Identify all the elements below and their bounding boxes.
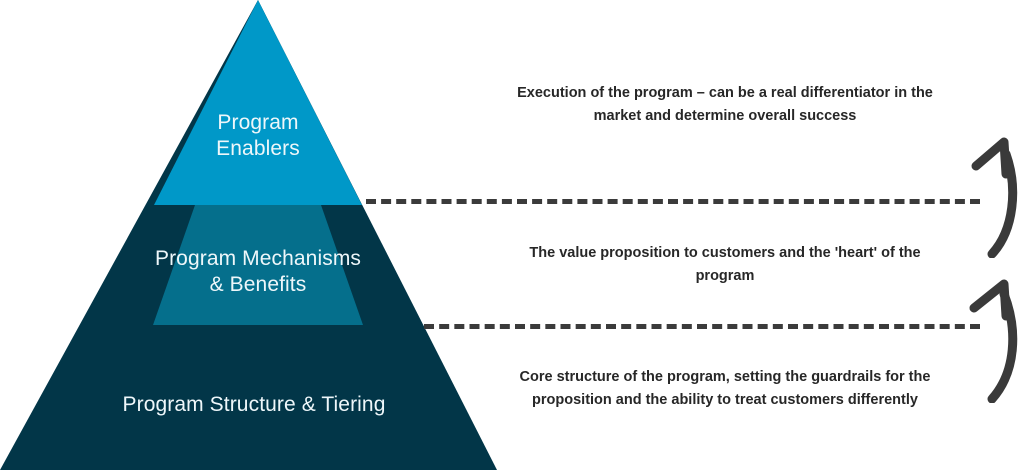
description-program-structure-tiering: Core structure of the program, setting t… [510, 366, 940, 413]
arrow-lower-head [974, 284, 1006, 316]
pyramid-tier-top[interactable] [154, 0, 362, 205]
divider-upper-dashed-line [366, 199, 980, 204]
description-program-enablers: Execution of the program – can be a real… [510, 82, 940, 129]
pyramid-shape [0, 0, 512, 470]
curved-up-arrow-icon-upper [962, 118, 1024, 258]
diagram-canvas: Program Enablers Program Mechanisms & Be… [0, 0, 1024, 470]
description-program-mechanisms-benefits: The value proposition to customers and t… [510, 242, 940, 289]
curved-up-arrow-icon-lower [952, 268, 1024, 403]
arrow-upper-head [976, 142, 1006, 174]
divider-lower-dashed-line [424, 324, 980, 329]
